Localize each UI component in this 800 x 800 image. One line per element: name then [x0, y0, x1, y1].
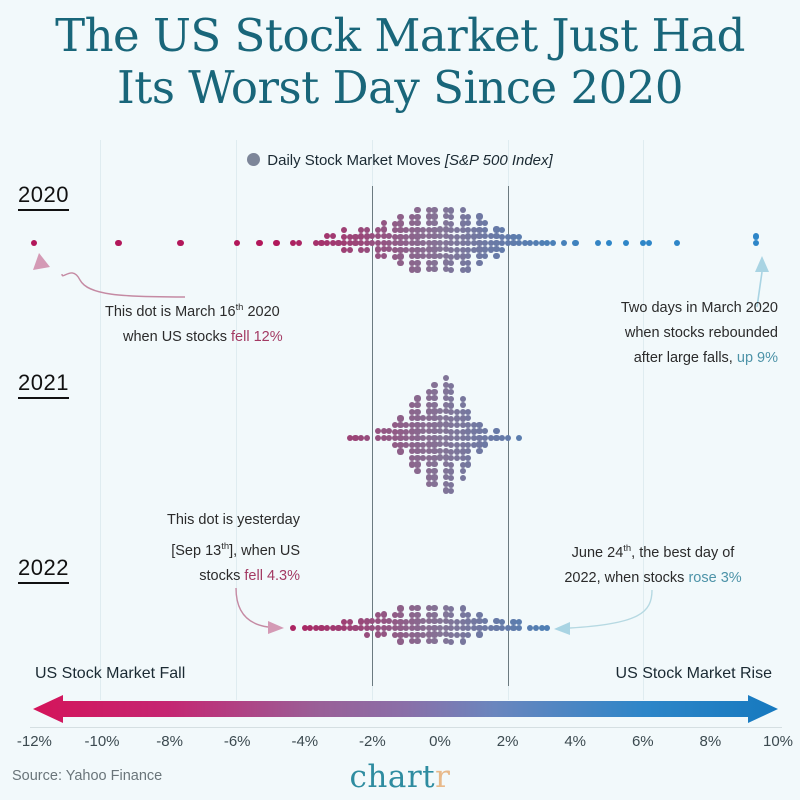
legend-dot-icon — [247, 153, 260, 166]
page-title: The US Stock Market Just Had Its Worst D… — [0, 10, 800, 114]
data-point — [482, 618, 488, 624]
data-point — [448, 475, 454, 481]
annotation-ordinal: th — [221, 540, 229, 551]
data-point — [443, 375, 449, 381]
year-label-2021: 2021 — [18, 370, 69, 399]
data-point — [341, 227, 347, 233]
annotation-highlight: fell 4.3% — [244, 568, 300, 584]
year-label-2020: 2020 — [18, 182, 69, 211]
data-point — [431, 605, 437, 611]
data-point — [448, 612, 454, 618]
data-point — [499, 227, 505, 233]
infographic-root: The US Stock Market Just Had Its Worst D… — [0, 0, 800, 800]
data-point — [414, 266, 420, 272]
data-point — [431, 260, 437, 266]
data-point — [606, 240, 612, 246]
data-point — [476, 422, 482, 428]
data-point — [448, 221, 454, 227]
arrow-path-june24 — [570, 590, 652, 628]
data-point — [595, 240, 601, 246]
data-point — [572, 240, 578, 246]
data-point — [448, 462, 454, 468]
annotation-line: when stocks rebounded — [478, 321, 778, 346]
data-point — [561, 240, 567, 246]
data-point — [414, 220, 420, 226]
data-point — [397, 253, 403, 259]
data-point — [505, 435, 511, 441]
data-point — [465, 214, 471, 220]
data-point — [465, 461, 471, 467]
data-point — [448, 488, 454, 494]
data-point — [753, 233, 759, 239]
annotation-line: stocks fell 4.3% — [120, 564, 300, 589]
data-point — [414, 395, 420, 401]
data-point — [431, 612, 437, 618]
data-point — [431, 395, 437, 401]
data-point — [482, 220, 488, 226]
brand-logo: chartr — [0, 759, 800, 795]
axis-tick: 2% — [497, 733, 519, 750]
data-point — [623, 240, 629, 246]
data-point — [381, 226, 387, 232]
annotation-line: This dot is yesterday — [120, 508, 300, 533]
data-point — [448, 396, 454, 402]
data-point — [397, 612, 403, 618]
data-point — [414, 468, 420, 474]
data-point — [431, 389, 437, 395]
data-point — [431, 638, 437, 644]
data-point — [465, 612, 471, 618]
data-point — [465, 455, 471, 461]
data-point — [364, 435, 370, 441]
data-point — [465, 260, 471, 266]
data-point — [476, 260, 482, 266]
data-point — [381, 611, 387, 617]
arrow-head-sep13 — [268, 621, 284, 634]
bg-band — [643, 140, 644, 700]
data-point — [493, 428, 499, 434]
legend-index: [S&P 500 Index] — [445, 152, 553, 169]
data-point — [431, 382, 437, 388]
annotation-text: June 24 — [572, 545, 624, 561]
data-point — [234, 240, 240, 246]
axis-tick: -12% — [17, 733, 52, 750]
data-point — [516, 619, 522, 625]
arrow-head-rebound — [755, 256, 769, 272]
data-point — [397, 214, 403, 220]
data-point — [476, 612, 482, 618]
data-point — [431, 220, 437, 226]
annotation-line: This dot is March 16th 2020 — [105, 294, 365, 325]
annotation-line: after large falls, up 9% — [478, 346, 778, 371]
data-point — [273, 240, 279, 246]
bg-band — [100, 140, 101, 700]
data-point — [414, 461, 420, 467]
axis-label-rise: US Stock Market Rise — [616, 665, 772, 683]
data-point — [448, 639, 454, 645]
annotation-text: , the best day of — [631, 545, 734, 561]
axis-tick: 8% — [700, 733, 722, 750]
arrow-head-march16 — [33, 253, 50, 270]
annotation-text: stocks — [199, 568, 244, 584]
data-point — [397, 638, 403, 644]
data-point — [431, 461, 437, 467]
annotation-june-24-2022: June 24th, the best day of 2022, when st… — [528, 535, 778, 591]
data-point — [448, 383, 454, 389]
annotation-line: Two days in March 2020 — [478, 296, 778, 321]
data-point — [448, 260, 454, 266]
data-point — [482, 227, 488, 233]
data-point — [465, 220, 471, 226]
annotation-line: June 24th, the best day of — [528, 535, 778, 566]
data-point — [347, 619, 353, 625]
data-point — [476, 631, 482, 637]
data-point — [646, 240, 652, 246]
data-point — [460, 605, 466, 611]
data-point — [177, 240, 183, 246]
data-point — [431, 474, 437, 480]
data-point — [397, 448, 403, 454]
data-point — [414, 605, 420, 611]
data-point — [499, 619, 505, 625]
data-point — [516, 625, 522, 631]
data-point — [448, 214, 454, 220]
annotation-highlight: rose 3% — [688, 570, 741, 586]
data-point — [31, 240, 37, 246]
annotation-text: after large falls, — [634, 350, 737, 366]
data-point — [256, 240, 262, 246]
annotation-text: ], when US — [229, 543, 300, 559]
data-point — [448, 389, 454, 395]
title-line-2: Its Worst Day Since 2020 — [0, 62, 800, 114]
data-point — [364, 227, 370, 233]
data-point — [431, 207, 437, 213]
axis-block: US Stock Market Fall US Stock Market Ris… — [0, 655, 800, 800]
annotation-text: This dot is March 16 — [105, 304, 236, 320]
gradient-arrow-bar — [33, 695, 778, 723]
data-point — [482, 428, 488, 434]
annotation-line: when US stocks fell 12% — [123, 325, 365, 350]
data-point — [465, 632, 471, 638]
brand-part-1: chart — [350, 759, 436, 795]
data-point — [460, 468, 466, 474]
annotation-text: 2020 — [243, 304, 279, 320]
annotation-text: when US stocks — [123, 329, 231, 345]
annotation-line: 2022, when stocks rose 3% — [528, 566, 778, 591]
data-point — [431, 468, 437, 474]
axis-tick: 10% — [763, 733, 793, 750]
data-point — [448, 468, 454, 474]
annotation-ordinal: th — [623, 542, 631, 553]
data-point — [414, 612, 420, 618]
axis-tick: 4% — [564, 733, 586, 750]
annotation-text: [Sep 13 — [171, 543, 221, 559]
annotation-line: [Sep 13th], when US — [120, 533, 300, 564]
data-point — [460, 638, 466, 644]
bg-band — [236, 140, 237, 700]
annotation-highlight: fell 12% — [231, 329, 283, 345]
data-point — [431, 213, 437, 219]
data-point — [381, 220, 387, 226]
data-point — [414, 638, 420, 644]
data-point — [460, 207, 466, 213]
data-point — [516, 435, 522, 441]
gridline-minus2 — [372, 186, 373, 686]
axis-tick: 6% — [632, 733, 654, 750]
data-point — [296, 240, 302, 246]
data-point — [397, 605, 403, 611]
data-point — [290, 625, 296, 631]
data-point — [674, 240, 680, 246]
data-point — [544, 625, 550, 631]
data-point — [460, 396, 466, 402]
data-point — [550, 240, 556, 246]
axis-tick: -4% — [291, 733, 318, 750]
data-point — [476, 213, 482, 219]
axis-baseline — [30, 727, 782, 728]
annotation-highlight: up 9% — [737, 350, 778, 366]
data-point — [364, 632, 370, 638]
data-point — [347, 247, 353, 253]
axis-tick: -2% — [359, 733, 386, 750]
data-point — [414, 409, 420, 415]
data-point — [499, 247, 505, 253]
data-point — [465, 409, 471, 415]
data-point — [448, 482, 454, 488]
data-point — [516, 234, 522, 240]
data-point — [397, 220, 403, 226]
annotation-march-2020-rebound: Two days in March 2020 when stocks rebou… — [478, 296, 778, 371]
arrow-path-sep13 — [236, 588, 268, 627]
brand-part-2: r — [435, 759, 450, 795]
legend-label: Daily Stock Market Moves — [267, 152, 440, 169]
annotation-sep-13-2022: This dot is yesterday [Sep 13th], when U… — [120, 508, 300, 589]
axis-label-fall: US Stock Market Fall — [35, 665, 185, 683]
data-point — [476, 448, 482, 454]
annotation-text: 2022, when stocks — [564, 570, 688, 586]
data-point — [460, 475, 466, 481]
data-point — [448, 207, 454, 213]
data-point — [414, 207, 420, 213]
title-line-1: The US Stock Market Just Had — [0, 10, 800, 62]
data-point — [330, 233, 336, 239]
data-point — [482, 441, 488, 447]
data-point — [381, 631, 387, 637]
data-point — [465, 266, 471, 272]
data-point — [493, 253, 499, 259]
axis-tick: -10% — [84, 733, 119, 750]
axis-tick: 0% — [429, 733, 451, 750]
arrow-head-june24 — [554, 622, 570, 635]
data-point — [460, 402, 466, 408]
data-point — [397, 260, 403, 266]
data-point — [448, 402, 454, 408]
data-point — [431, 481, 437, 487]
legend: Daily Stock Market Moves [S&P 500 Index] — [0, 152, 800, 169]
data-point — [364, 247, 370, 253]
data-point — [482, 253, 488, 259]
data-point — [465, 415, 471, 421]
data-point — [414, 260, 420, 266]
axis-tick: -8% — [156, 733, 183, 750]
annotation-march-16-2020: This dot is March 16th 2020 when US stoc… — [105, 294, 365, 350]
data-point — [431, 266, 437, 272]
data-point — [431, 402, 437, 408]
data-point — [381, 253, 387, 259]
data-point — [414, 402, 420, 408]
data-point — [465, 448, 471, 454]
data-point — [414, 214, 420, 220]
axis-tick: -6% — [224, 733, 251, 750]
data-point — [448, 606, 454, 612]
data-point — [753, 240, 759, 246]
data-point — [465, 253, 471, 259]
data-point — [115, 240, 121, 246]
data-point — [448, 267, 454, 273]
data-point — [397, 415, 403, 421]
year-label-2022: 2022 — [18, 555, 69, 584]
